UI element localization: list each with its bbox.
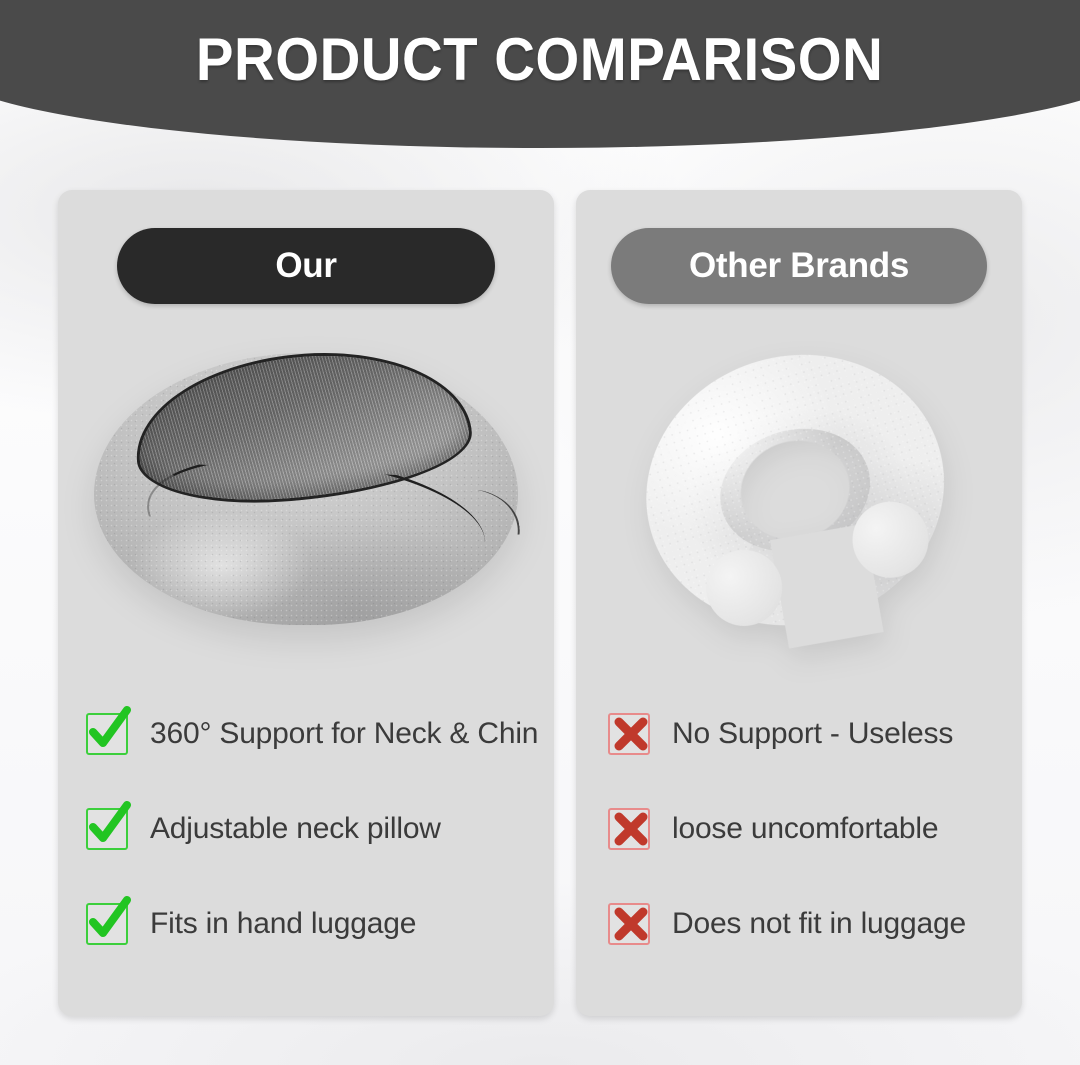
check-icon: [86, 713, 128, 755]
feature-label: 360° Support for Neck & Chin: [150, 717, 538, 750]
header-inner: PRODUCT COMPARISON: [0, 0, 1080, 120]
badge-row-ours: Our: [58, 228, 554, 304]
feature-label: Does not fit in luggage: [672, 907, 966, 940]
check-icon: [86, 903, 128, 945]
product-image-other: [576, 304, 1022, 674]
u-pillow-illustration: [597, 308, 1001, 671]
cross-icon: [608, 713, 650, 755]
donut-pillow-illustration: [86, 339, 526, 639]
feature-list-ours: 360° Support for Neck & Chin Adjustable …: [58, 674, 554, 1016]
feature-item: Fits in hand luggage: [58, 876, 554, 971]
feature-item: loose uncomfortable: [576, 781, 1022, 876]
badge-ours[interactable]: Our: [117, 228, 495, 304]
cross-icon: [608, 903, 650, 945]
feature-label: No Support - Useless: [672, 717, 953, 750]
feature-item: Does not fit in luggage: [576, 876, 1022, 971]
badge-row-other: Other Brands: [576, 228, 1022, 304]
cross-icon: [608, 808, 650, 850]
feature-label: Adjustable neck pillow: [150, 812, 441, 845]
feature-item: Adjustable neck pillow: [58, 781, 554, 876]
comparison-card-other-brands: Other Brands: [576, 190, 1022, 1016]
badge-other-brands[interactable]: Other Brands: [611, 228, 987, 304]
feature-label: loose uncomfortable: [672, 812, 938, 845]
header-banner: PRODUCT COMPARISON: [0, 0, 1080, 148]
comparison-page: PRODUCT COMPARISON Our: [0, 0, 1080, 1065]
product-image-ours: [58, 304, 554, 674]
comparison-columns: Our 360° Sup: [58, 190, 1022, 1016]
page-title: PRODUCT COMPARISON: [196, 30, 883, 90]
feature-label: Fits in hand luggage: [150, 907, 416, 940]
feature-list-other: No Support - Useless loose uncomfortable: [576, 674, 1022, 1016]
comparison-card-ours: Our 360° Sup: [58, 190, 554, 1016]
feature-item: 360° Support for Neck & Chin: [58, 686, 554, 781]
feature-item: No Support - Useless: [576, 686, 1022, 781]
check-icon: [86, 808, 128, 850]
